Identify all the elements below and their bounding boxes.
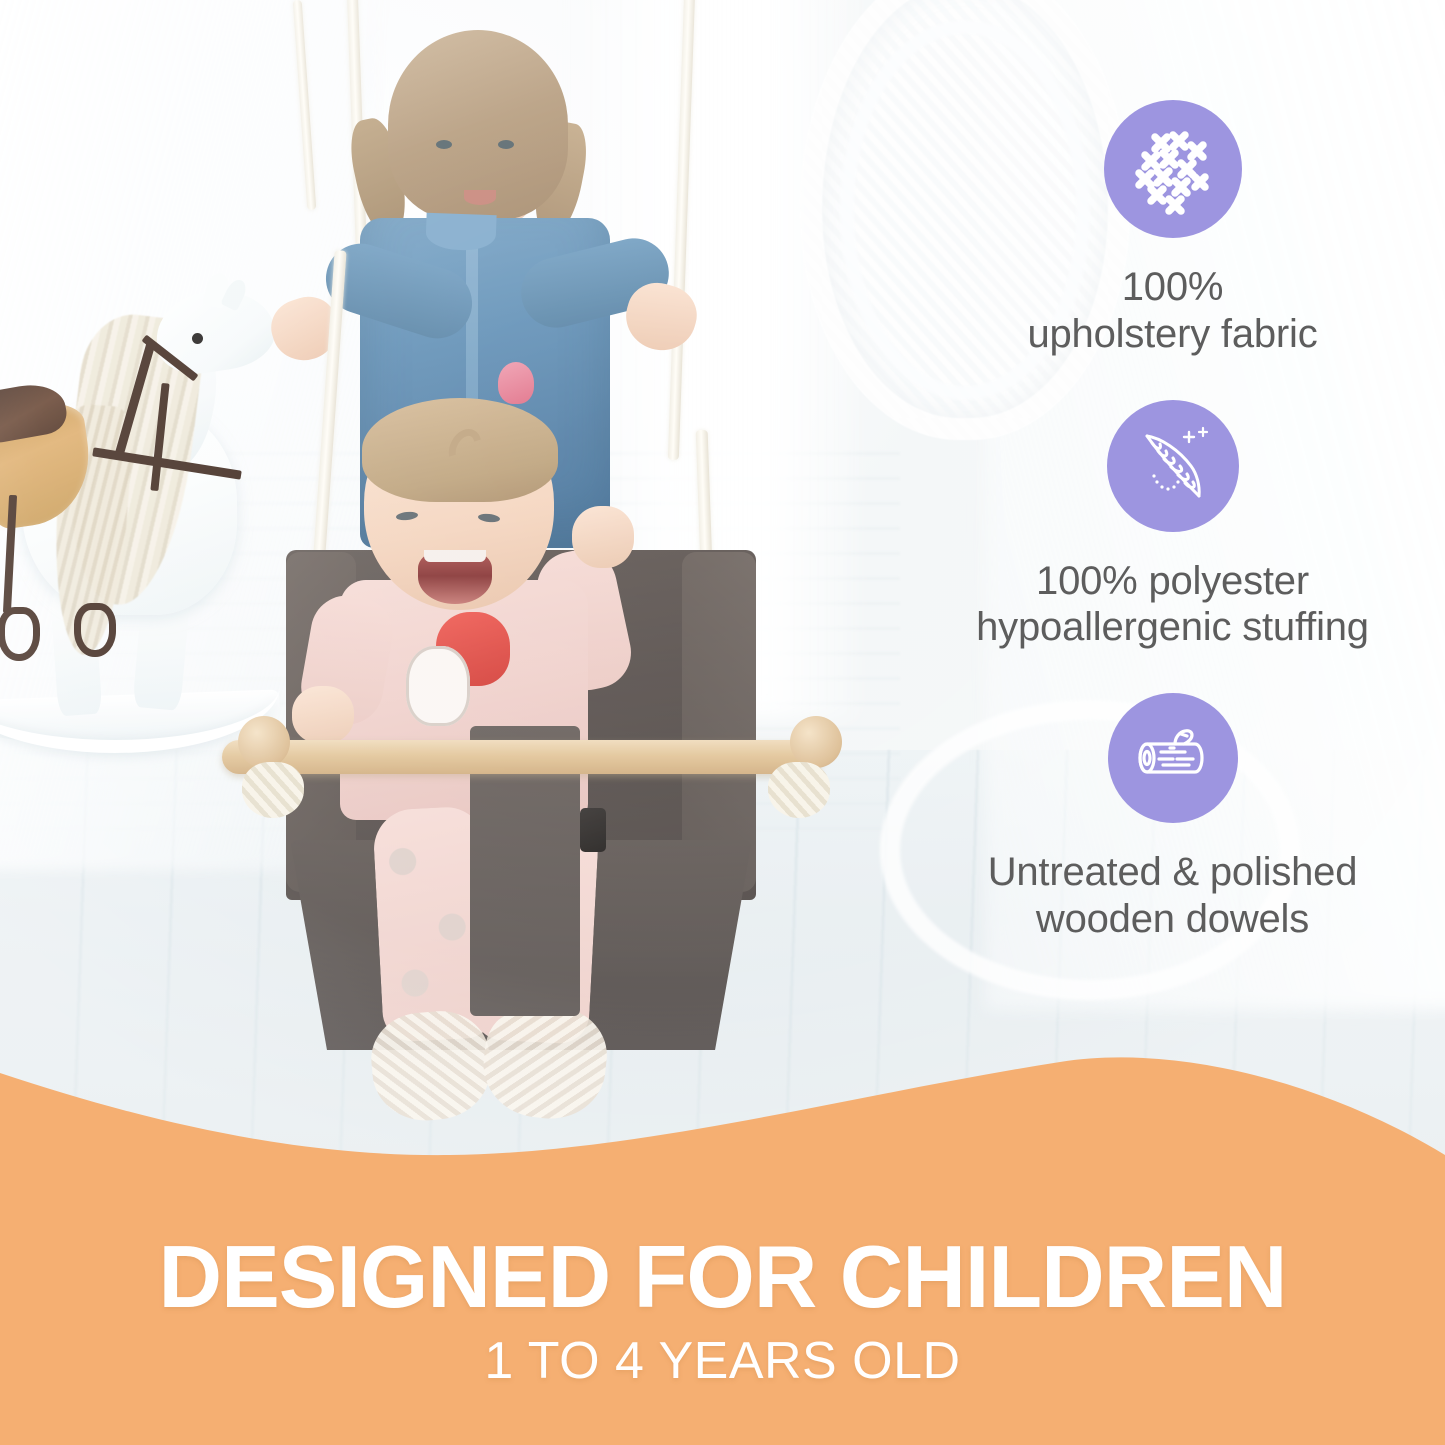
baby-bunny-applique — [406, 646, 470, 726]
bottom-banner: DESIGNED FOR CHILDREN 1 TO 4 YEARS OLD — [0, 1045, 1445, 1445]
feature-item-upholstery-fabric: 100% upholstery fabric — [900, 100, 1445, 358]
banner-subtitle: 1 TO 4 YEARS OLD — [484, 1335, 960, 1387]
woven-fabric-icon — [1104, 100, 1242, 238]
shirt-patch — [498, 362, 534, 404]
baby-hand — [572, 506, 634, 568]
child-eye — [436, 140, 452, 149]
horse-stirrup — [74, 603, 116, 657]
baby-child — [300, 400, 720, 1120]
rocking-horse — [0, 255, 300, 725]
feature-label: 100% upholstery fabric — [1027, 264, 1317, 358]
baby-teeth — [424, 550, 486, 562]
product-infographic: 100% upholstery fabric — [0, 0, 1445, 1445]
baby-hand — [292, 686, 354, 744]
child-mouth — [464, 190, 496, 205]
feature-label: 100% polyester hypoallergenic stuffing — [976, 558, 1369, 652]
feature-item-wooden-dowels: Untreated & polished wooden dowels — [900, 693, 1445, 943]
feature-label: Untreated & polished wooden dowels — [988, 849, 1358, 943]
child-eye — [498, 140, 514, 149]
wood-log-icon — [1108, 693, 1238, 823]
feather-sparkle-icon — [1107, 400, 1239, 532]
horse-eye — [192, 333, 203, 344]
banner-title: DESIGNED FOR CHILDREN — [159, 1233, 1287, 1321]
horse-stirrup — [0, 607, 40, 661]
feature-item-polyester-stuffing: 100% polyester hypoallergenic stuffing — [900, 400, 1445, 652]
feature-list: 100% upholstery fabric — [900, 0, 1445, 1080]
banner-copy: DESIGNED FOR CHILDREN 1 TO 4 YEARS OLD — [0, 1045, 1445, 1445]
